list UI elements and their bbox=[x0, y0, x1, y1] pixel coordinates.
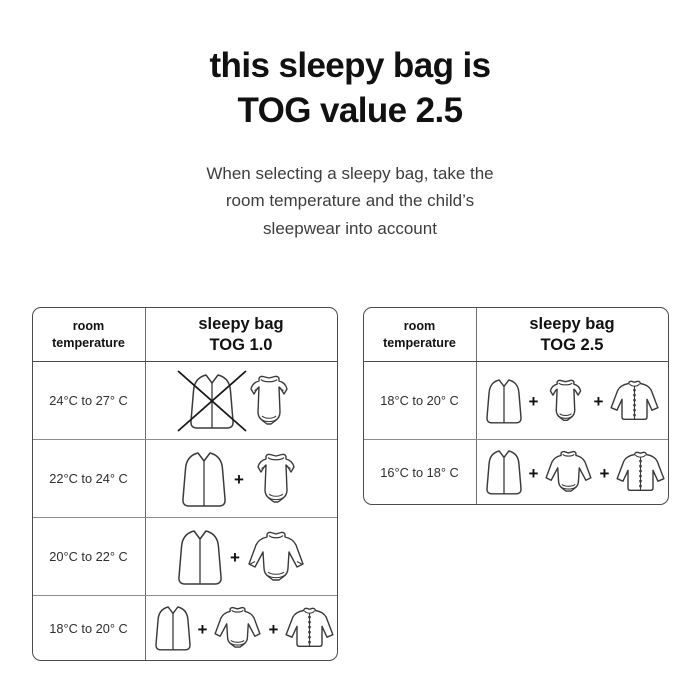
sleeping-bag-icon bbox=[483, 447, 525, 497]
tog-tables-container: room temperature sleepy bag TOG 1.0 24°C… bbox=[0, 307, 700, 661]
temperature-value: 22°C to 24° C bbox=[49, 471, 128, 486]
sleeping-bag-icon bbox=[174, 527, 226, 587]
table-row: 16°C to 18° C + bbox=[364, 439, 668, 504]
header-cell-sleepy-bag: sleepy bag TOG 2.5 bbox=[477, 308, 668, 361]
short-sleeve-bodysuit-icon bbox=[248, 450, 304, 508]
table-row: 18°C to 20° C + bbox=[364, 361, 668, 439]
sleeping-bag-icon bbox=[178, 449, 230, 509]
long-sleeve-bodysuit-icon bbox=[244, 528, 308, 586]
short-sleeve-bodysuit-icon bbox=[542, 376, 589, 426]
temperature-value: 18°C to 20° C bbox=[49, 621, 128, 636]
header-temperature-label: temperature bbox=[52, 335, 125, 352]
cell-garments: + bbox=[146, 440, 337, 517]
temperature-value: 18°C to 20° C bbox=[380, 393, 459, 408]
temperature-value: 16°C to 18° C bbox=[380, 465, 459, 480]
header-tog-value-label: TOG 2.5 bbox=[529, 335, 614, 356]
tog-table-2-5: room temperature sleepy bag TOG 2.5 18°C… bbox=[363, 307, 669, 505]
page-title-line-1: this sleepy bag is bbox=[70, 44, 630, 89]
page-header: this sleepy bag is TOG value 2.5 When se… bbox=[0, 0, 700, 242]
table-row: 20°C to 22° C + bbox=[33, 517, 337, 595]
cell-room-temperature: 22°C to 24° C bbox=[33, 440, 146, 517]
temperature-value: 20°C to 22° C bbox=[49, 549, 128, 564]
page-title-line-2: TOG value 2.5 bbox=[70, 89, 630, 134]
table-row: 24°C to 27° C bbox=[33, 361, 337, 439]
cell-garments: + + bbox=[146, 596, 338, 660]
cell-room-temperature: 24°C to 27° C bbox=[33, 362, 146, 439]
sleeping-bag-icon bbox=[186, 371, 238, 431]
sleeping-bag-icon bbox=[483, 376, 525, 426]
cell-room-temperature: 16°C to 18° C bbox=[364, 440, 477, 504]
page-subtitle: When selecting a sleepy bag, take the ro… bbox=[140, 160, 560, 243]
cardigan-icon bbox=[282, 603, 337, 653]
plus-symbol: + bbox=[528, 465, 540, 482]
table-header-row: room temperature sleepy bag TOG 1.0 bbox=[33, 308, 337, 361]
plus-symbol: + bbox=[233, 471, 245, 488]
plus-symbol: + bbox=[267, 621, 279, 638]
header-temperature-label: temperature bbox=[383, 335, 456, 352]
header-sleepy-bag-label: sleepy bag bbox=[529, 314, 614, 335]
plus-symbol: + bbox=[598, 465, 610, 482]
page-subtitle-line-2: room temperature and the child’s bbox=[140, 187, 560, 215]
header-sleepy-bag-label: sleepy bag bbox=[198, 314, 283, 335]
cell-room-temperature: 20°C to 22° C bbox=[33, 518, 146, 595]
temperature-value: 24°C to 27° C bbox=[49, 393, 128, 408]
cell-room-temperature: 18°C to 20° C bbox=[364, 362, 477, 439]
plus-symbol: + bbox=[592, 393, 604, 410]
plus-symbol: + bbox=[197, 621, 209, 638]
table-header-row: room temperature sleepy bag TOG 2.5 bbox=[364, 308, 668, 361]
cell-room-temperature: 18°C to 20° C bbox=[33, 596, 146, 660]
long-sleeve-bodysuit-icon bbox=[211, 603, 264, 653]
sleeping-bag-icon bbox=[152, 603, 194, 653]
cell-garments: + + bbox=[477, 362, 669, 439]
header-tog-value-label: TOG 1.0 bbox=[198, 335, 283, 356]
table-row: 22°C to 24° C + bbox=[33, 439, 337, 517]
page-subtitle-line-3: sleepwear into account bbox=[140, 215, 560, 243]
header-cell-room-temperature: room temperature bbox=[33, 308, 146, 361]
cell-garments bbox=[146, 362, 337, 439]
header-room-label: room bbox=[52, 318, 125, 335]
header-cell-room-temperature: room temperature bbox=[364, 308, 477, 361]
long-sleeve-bodysuit-icon bbox=[542, 447, 595, 497]
plus-symbol: + bbox=[229, 549, 241, 566]
table-row: 18°C to 20° C + bbox=[33, 595, 337, 660]
short-sleeve-bodysuit-icon bbox=[241, 372, 297, 430]
plus-symbol: + bbox=[528, 393, 540, 410]
cardigan-icon bbox=[613, 447, 668, 497]
cell-garments: + bbox=[146, 518, 337, 595]
page-title: this sleepy bag is TOG value 2.5 bbox=[70, 44, 630, 134]
page-subtitle-line-1: When selecting a sleepy bag, take the bbox=[140, 160, 560, 188]
tog-table-1-0: room temperature sleepy bag TOG 1.0 24°C… bbox=[32, 307, 338, 661]
header-room-label: room bbox=[383, 318, 456, 335]
cardigan-icon bbox=[607, 376, 662, 426]
header-cell-sleepy-bag: sleepy bag TOG 1.0 bbox=[146, 308, 337, 361]
cell-garments: + + bbox=[477, 440, 669, 504]
